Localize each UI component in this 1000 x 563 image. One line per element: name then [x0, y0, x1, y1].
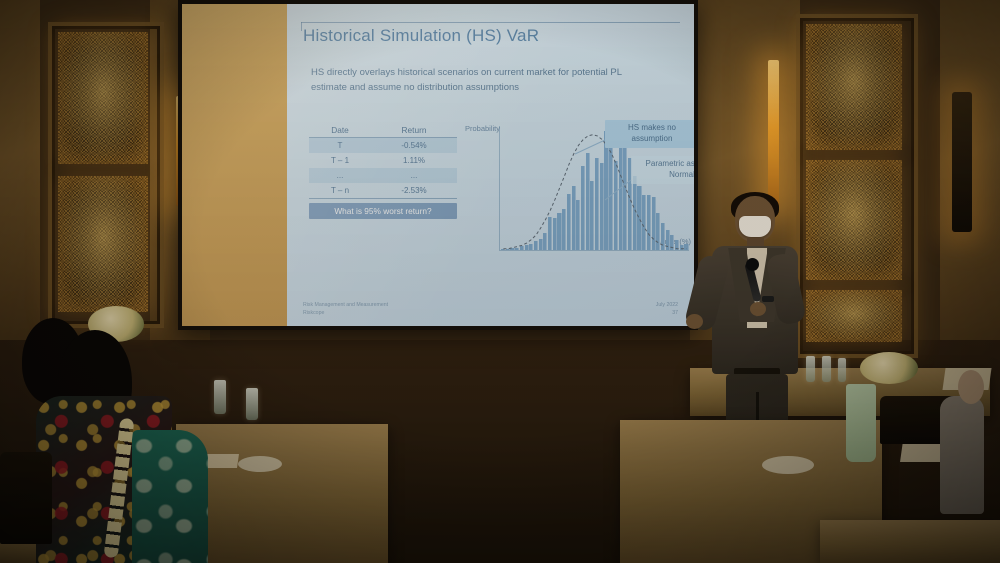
water-bottle	[822, 356, 831, 382]
worst-return-question: What is 95% worst return?	[309, 203, 457, 219]
lattice-screen-right-mid	[806, 160, 902, 280]
flower-arrangement-right	[860, 352, 918, 384]
cell-date: T – n	[309, 186, 371, 195]
lattice-screen-right-bottom	[806, 290, 902, 342]
lattice-screen-right-top	[806, 24, 902, 150]
footer-page-number: 37	[656, 310, 678, 318]
wall-speaker-right	[952, 92, 972, 232]
x-axis-line	[499, 250, 689, 251]
cell-return: -2.53%	[371, 186, 457, 195]
footer-course: Risk Management and Measurement	[303, 302, 388, 310]
microphone-head	[746, 258, 759, 271]
presenter-hand-holding-mic	[750, 302, 766, 316]
snack-plate-right	[762, 456, 814, 474]
presentation-room-photo: Historical Simulation (HS) VaR HS direct…	[0, 0, 1000, 563]
footer-org: Riskcope	[303, 310, 388, 318]
attendee-green-batik-shawl	[132, 430, 208, 563]
projection-screen: Historical Simulation (HS) VaR HS direct…	[178, 0, 698, 330]
slide-title: Historical Simulation (HS) VaR	[303, 26, 539, 46]
slide-corner-mark	[301, 22, 302, 31]
water-bottle	[246, 388, 258, 420]
cell-return: ...	[371, 171, 457, 180]
slide-footer-right: July 2022 37	[656, 302, 678, 318]
returns-table: Date Return T -0.54% T – 1 1.11% ... ...…	[309, 122, 457, 219]
cell-return: -0.54%	[371, 141, 457, 150]
snack-plate-left	[238, 456, 282, 472]
water-bottle	[838, 358, 846, 382]
slide-subtitle: HS directly overlays historical scenario…	[311, 66, 641, 95]
cell-date: T	[309, 141, 371, 150]
table-row: T -0.54%	[309, 138, 457, 153]
y-axis-line	[499, 126, 500, 250]
water-bottle	[214, 380, 226, 414]
column-header-date: Date	[309, 125, 371, 135]
table-row: T – 1 1.11%	[309, 153, 457, 168]
table-row: ... ...	[309, 168, 457, 183]
face-mask	[739, 216, 771, 237]
chair-left	[0, 452, 52, 544]
slide-footer-left: Risk Management and Measurement Riskcope	[303, 302, 388, 318]
cell-return: 1.11%	[371, 156, 457, 165]
footer-date: July 2022	[656, 302, 678, 310]
cell-date: T – 1	[309, 156, 371, 165]
column-header-return: Return	[371, 125, 457, 135]
lattice-screen-left-top	[58, 32, 148, 164]
projected-slide: Historical Simulation (HS) VaR HS direct…	[287, 4, 694, 326]
callout-hs-no-assumption: HS makes no assumption	[605, 120, 694, 148]
table-header-row: Date Return	[309, 122, 457, 138]
foreground-table-right	[820, 520, 1000, 563]
wall-marble-left	[0, 0, 40, 340]
callout-parametric-normal: Parametric assumes Normal	[631, 156, 694, 184]
lattice-screen-left-bottom	[58, 176, 148, 312]
slide-title-rule	[301, 22, 680, 23]
presenter-hand-gesturing	[686, 314, 703, 329]
table-row: T – n -2.53%	[309, 183, 457, 199]
green-tumbler	[846, 384, 876, 462]
y-axis-label: Probability	[465, 124, 500, 133]
cell-date: ...	[309, 171, 371, 180]
wall-sconce-center-right	[768, 60, 779, 210]
wristwatch	[762, 296, 774, 302]
attendee-hand-right	[958, 370, 984, 404]
attendee-arm-right	[940, 396, 984, 514]
screen-unlit-area	[182, 4, 287, 326]
